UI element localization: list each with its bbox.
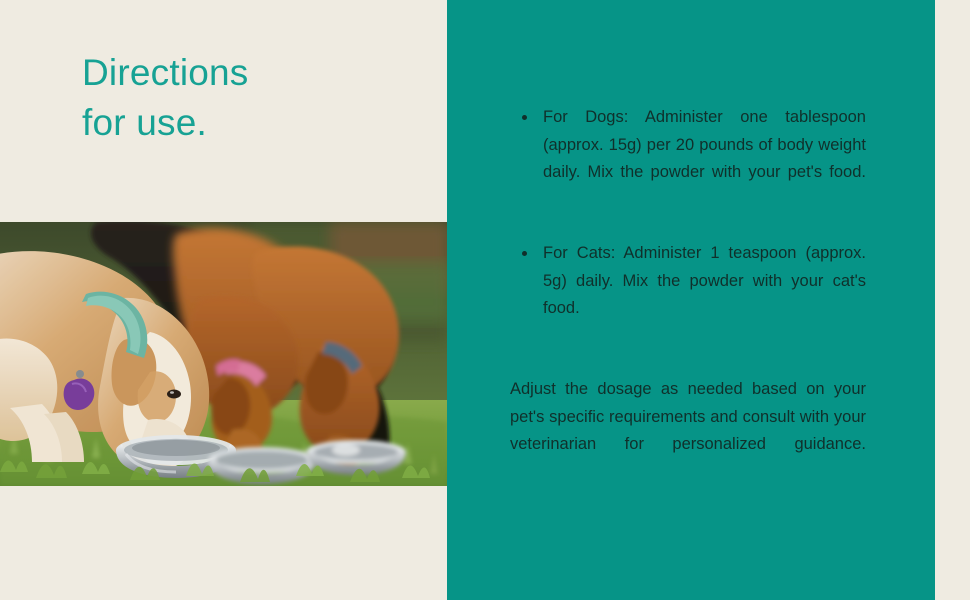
list-item: For Dogs: Administer one tablespoon (app…: [510, 104, 866, 214]
closing-paragraph: Adjust the dosage as needed based on you…: [510, 376, 866, 486]
bullet-text-dogs: For Dogs: Administer one tablespoon (app…: [543, 108, 866, 181]
bullet-dot-icon: [522, 115, 527, 120]
title-line-1: Directions: [82, 48, 412, 98]
page-title: Directions for use.: [82, 48, 412, 148]
dogs-eating-photo: [0, 222, 447, 486]
list-item: For Cats: Administer 1 teaspoon (approx.…: [510, 240, 866, 350]
bullet-dot-icon: [522, 251, 527, 256]
photo-illustration: [0, 222, 447, 486]
directions-content: For Dogs: Administer one tablespoon (app…: [510, 104, 866, 503]
directions-bullet-list: For Dogs: Administer one tablespoon (app…: [510, 104, 866, 350]
title-line-2: for use.: [82, 98, 412, 148]
slide-root: Directions for use.: [0, 0, 970, 600]
bullet-text-cats: For Cats: Administer 1 teaspoon (approx.…: [543, 244, 866, 317]
